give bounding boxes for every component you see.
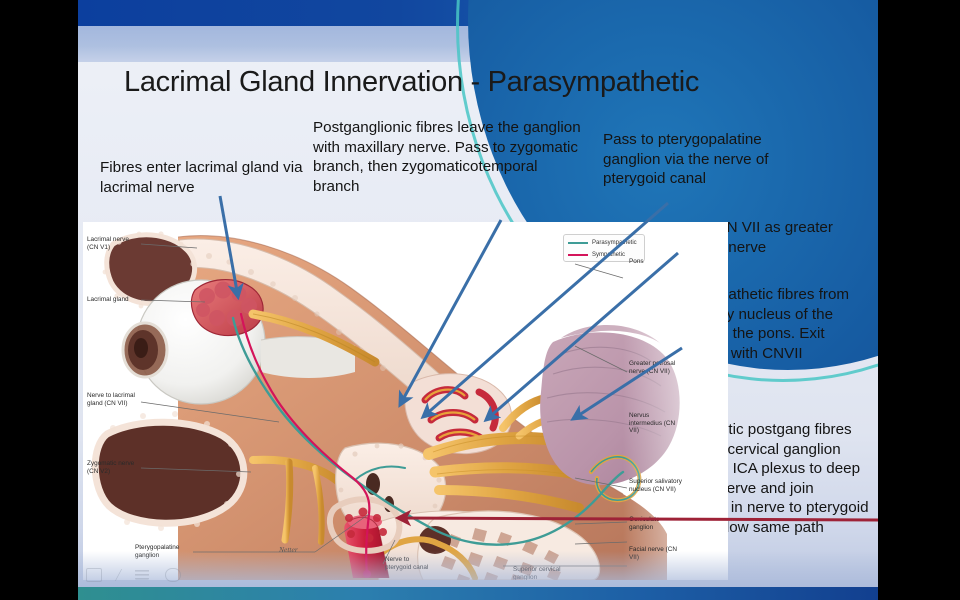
figure-label-geniculate-ganglion: Geniculate ganglion — [629, 516, 683, 531]
slides-menu-icon[interactable] — [135, 568, 149, 580]
annotation-pterygopalatine-ganglion: Pass to pterygopalatine ganglion via the… — [603, 130, 818, 189]
legend-label-parasympathetic: Parasympathetic — [592, 240, 637, 246]
slide-bottom-band — [78, 587, 878, 600]
annotation-postganglionic-fibres: Postganglionic fibres leave the ganglion… — [313, 118, 581, 196]
legend-swatch-sympathetic — [568, 254, 588, 256]
figure-label-nervus-intermedius: Nervus intermedius (CN VII) — [629, 412, 683, 435]
slide-title: Lacrimal Gland Innervation - Parasympath… — [124, 66, 824, 99]
pointer-icon[interactable] — [86, 568, 102, 582]
more-options-icon[interactable] — [165, 568, 181, 582]
letterbox-right — [878, 0, 960, 600]
slide-bottom-fade — [78, 551, 878, 587]
figure-label-superior-salivatory-nucleus: Superior salivatory nucleus (CN VII) — [629, 478, 697, 493]
figure-label-greater-petrosal-nerve: Greater petrosal nerve (CN VII) — [629, 360, 689, 375]
figure-label-lacrimal-gland: Lacrimal gland — [87, 296, 145, 304]
legend-swatch-parasympathetic — [568, 242, 588, 244]
figure-label-zygomatic-nerve: Zygomatic nerve (CN V2) — [87, 460, 139, 475]
legend-item-parasympathetic: Parasympathetic — [568, 237, 640, 249]
figure-label-lacrimal-nerve: Lacrimal nerve (CN V1) — [87, 236, 141, 251]
legend-label-sympathetic: Sympathetic — [592, 252, 625, 258]
screen-root: Lacrimal Gland Innervation - Parasympath… — [0, 0, 960, 600]
figure-label-nerve-to-lacrimal-gland: Nerve to lacrimal gland (CN VII) — [87, 392, 139, 407]
annotation-lacrimal-nerve-entry: Fibres enter lacrimal gland via lacrimal… — [100, 158, 306, 197]
letterbox-left — [0, 0, 78, 600]
pen-icon[interactable] — [115, 569, 122, 582]
figure-label-pons: Pons — [629, 258, 691, 266]
anatomy-figure: Netter Parasympathetic Sympathetic Lacri… — [83, 222, 728, 580]
presentation-toolbar-tray[interactable] — [86, 568, 181, 582]
presentation-slide: Lacrimal Gland Innervation - Parasympath… — [78, 0, 878, 600]
